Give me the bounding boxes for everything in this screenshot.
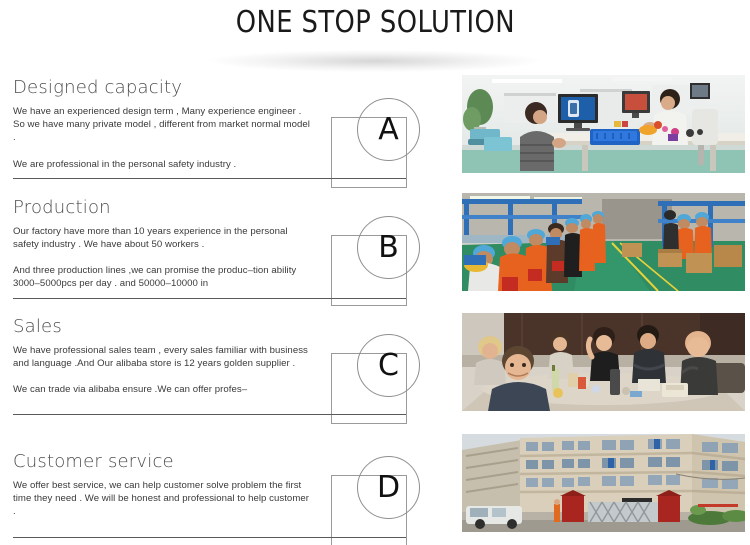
sales-team-illustration <box>462 313 745 411</box>
section-heading: Sales <box>13 317 313 338</box>
section-production: Production Our factory have more than 10… <box>0 188 750 308</box>
one-stop-solution-page: ONE STOP SOLUTION Designed capacity We h… <box>0 0 750 545</box>
factory-building-illustration <box>462 434 745 532</box>
section-designed-capacity: Designed capacity We have an experienced… <box>0 70 750 188</box>
section-heading: Customer service <box>13 452 313 473</box>
section-paragraph: We have an experienced design term , Man… <box>13 105 313 145</box>
title-shadow-decoration <box>210 50 540 72</box>
section-divider <box>13 178 406 179</box>
badge-letter: A <box>357 98 420 161</box>
section-text-column: Sales We have professional sales team , … <box>13 317 313 396</box>
section-heading: Production <box>13 198 313 219</box>
section-divider <box>13 414 406 415</box>
sales-team-photo <box>462 313 745 411</box>
production-line-photo <box>462 193 745 291</box>
section-heading: Designed capacity <box>13 78 313 99</box>
page-title: ONE STOP SOLUTION <box>235 6 514 39</box>
section-text-column: Designed capacity We have an experienced… <box>13 78 313 172</box>
design-office-photo <box>462 75 745 173</box>
step-badge: C <box>325 334 450 434</box>
step-badge: A <box>325 98 450 198</box>
section-divider <box>13 537 406 538</box>
production-line-illustration <box>462 193 745 291</box>
section-paragraph: We offer best service, we can help custo… <box>13 479 313 519</box>
factory-building-photo <box>462 434 745 532</box>
section-text-column: Production Our factory have more than 10… <box>13 198 313 291</box>
design-office-illustration <box>462 75 745 173</box>
section-paragraph: Our factory have more than 10 years expe… <box>13 225 313 251</box>
section-customer-service: Customer service We offer best service, … <box>0 426 750 545</box>
step-badge: B <box>325 216 450 316</box>
badge-letter: C <box>357 334 420 397</box>
section-paragraph: We are professional in the personal safe… <box>13 158 313 171</box>
badge-letter: B <box>357 216 420 279</box>
section-text-column: Customer service We offer best service, … <box>13 452 313 518</box>
section-paragraph: We have professional sales team , every … <box>13 344 313 370</box>
page-title-wrapper: ONE STOP SOLUTION <box>0 6 750 39</box>
section-divider <box>13 298 406 299</box>
section-paragraph: We can trade via alibaba ensure .We can … <box>13 383 313 396</box>
section-sales: Sales We have professional sales team , … <box>0 308 750 426</box>
step-badge: D <box>325 456 450 545</box>
badge-letter: D <box>357 456 420 519</box>
section-paragraph: And three production lines ,we can promi… <box>13 264 313 290</box>
